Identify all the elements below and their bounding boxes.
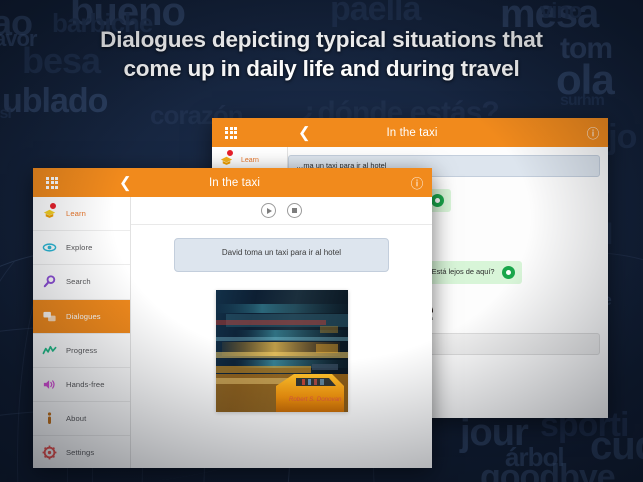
gear-icon	[42, 445, 57, 460]
sidebar-item-label: Dialogues	[66, 312, 101, 321]
zigzag-chart-icon	[42, 343, 57, 358]
back-appbar-title: In the taxi	[246, 127, 578, 139]
background-word: paella	[330, 0, 420, 29]
front-appbar-title: In the taxi	[67, 177, 402, 189]
graduation-cap-icon	[42, 206, 57, 221]
back-sidebar-label-learn: Learn	[241, 157, 259, 164]
dialogue-intro-text: David toma un taxi para ir al hotel	[174, 238, 389, 272]
audio-play-icon[interactable]	[431, 194, 444, 207]
back-chevron-icon[interactable]: ❮	[119, 175, 132, 190]
sidebar-item-label: Search	[66, 277, 91, 286]
sidebar-item-label: Settings	[66, 448, 94, 457]
sidebar-item-label: Learn	[66, 209, 86, 218]
graduation-cap-icon	[219, 153, 234, 168]
background-word: isi	[0, 105, 11, 123]
taxi-photo: Robert S. Donovan	[216, 290, 348, 412]
magnifier-icon	[42, 274, 57, 289]
help-circle-icon[interactable]: ⓘ	[402, 173, 432, 192]
help-circle-icon[interactable]: ⓘ	[578, 123, 608, 142]
background-word: surhm	[560, 92, 604, 110]
sidebar-nav[interactable]: LearnExploreSearchDialoguesProgressHands…	[33, 197, 131, 468]
headline-line-1: Dialogues depicting typical situations t…	[100, 27, 543, 52]
sidebar-item-settings[interactable]: Settings	[33, 436, 130, 468]
sidebar-item-explore[interactable]: Explore	[33, 231, 130, 265]
sidebar-item-dialogues[interactable]: Dialogues	[33, 300, 130, 334]
learn-badge	[226, 149, 234, 157]
speaker-icon	[42, 377, 57, 392]
background-word: vino	[540, 0, 581, 24]
headline-line-2: come up in daily life and during travel	[46, 55, 597, 84]
front-appbar: ❮ In the taxi ⓘ	[33, 168, 432, 197]
audio-transport-bar	[131, 197, 432, 225]
front-app-window: ❮ In the taxi ⓘ LearnExploreSearchDialog…	[33, 168, 432, 468]
sidebar-item-search[interactable]: Search	[33, 265, 130, 299]
grid-menu-icon[interactable]	[37, 177, 67, 189]
main-content: David toma un taxi para ir al hotel	[131, 197, 432, 468]
sidebar-item-progress[interactable]: Progress	[33, 334, 130, 368]
back-appbar: ❮ In the taxi ⓘ	[212, 118, 608, 147]
chat-bubbles-icon	[42, 309, 57, 324]
promo-screenshot: buenobarbicheaoavorbesaubladoisipaellame…	[0, 0, 643, 482]
play-button[interactable]	[261, 203, 276, 218]
sidebar-item-label: Hands-free	[66, 380, 105, 389]
front-panel-body: LearnExploreSearchDialoguesProgressHands…	[33, 197, 432, 468]
audio-play-icon[interactable]	[502, 266, 515, 279]
photo-credit: Robert S. Donovan	[289, 396, 342, 403]
sidebar-item-label: Progress	[66, 346, 97, 355]
grid-menu-icon[interactable]	[216, 127, 246, 139]
sidebar-item-learn[interactable]: Learn	[33, 197, 130, 231]
background-word: ublado	[2, 82, 107, 121]
eye-icon	[42, 240, 57, 255]
sidebar-item-label: About	[66, 414, 86, 423]
sidebar-item-label: Explore	[66, 243, 92, 252]
info-icon	[42, 411, 57, 426]
back-chevron-icon[interactable]: ❮	[298, 125, 311, 140]
page-title: Dialogues depicting typical situations t…	[0, 26, 643, 83]
sidebar-item-about[interactable]: About	[33, 402, 130, 436]
sidebar-item-hands-free[interactable]: Hands-free	[33, 368, 130, 402]
stop-button[interactable]	[287, 203, 302, 218]
